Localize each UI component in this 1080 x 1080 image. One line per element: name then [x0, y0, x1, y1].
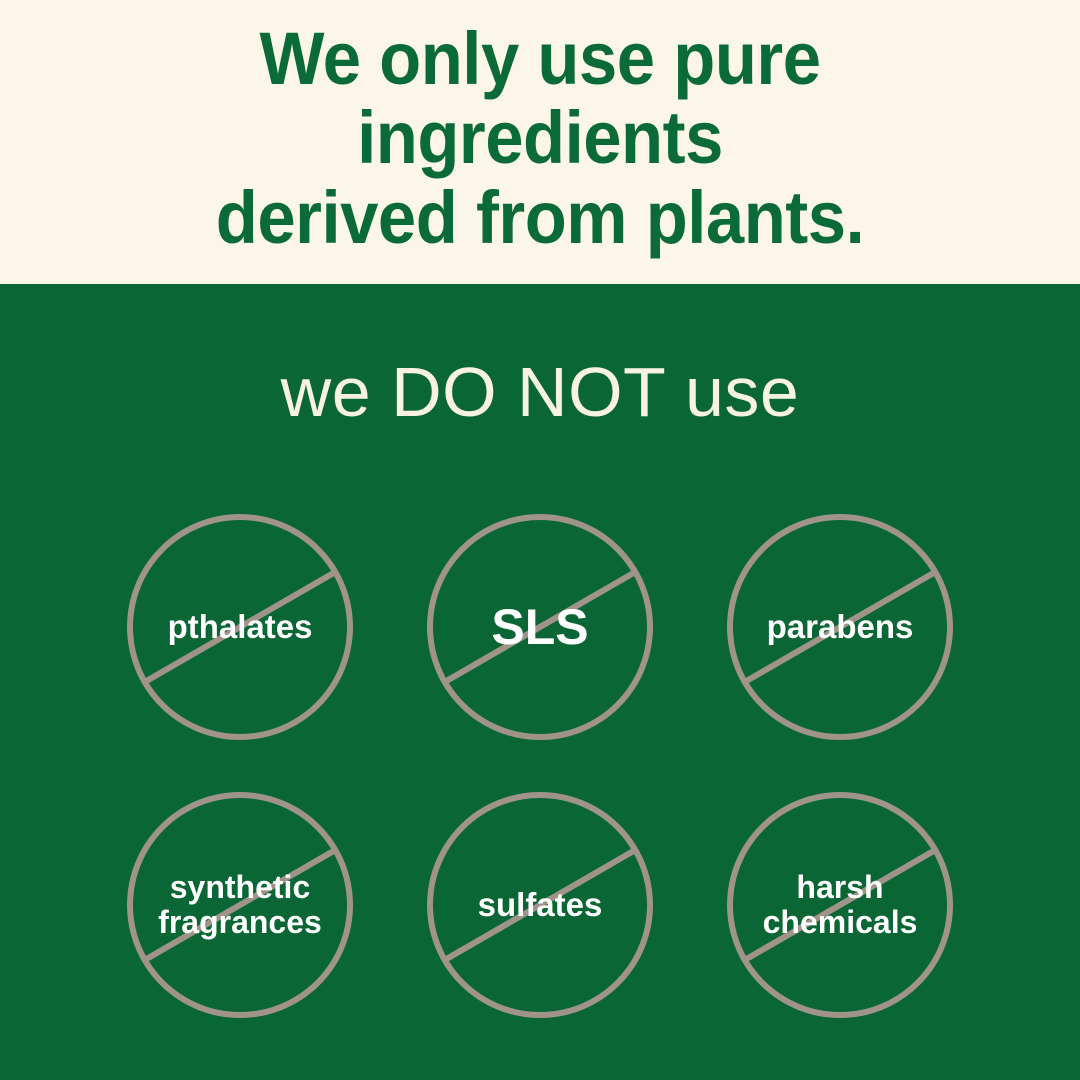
header-band: We only use pure ingredients derived fro…: [0, 0, 1080, 284]
poster-canvas: We only use pure ingredients derived fro…: [0, 0, 1080, 1080]
prohibition-badge: parabens: [726, 513, 954, 741]
prohibition-badge: pthalates: [126, 513, 354, 741]
ingredient-badge-parabens: parabens: [690, 488, 990, 766]
prohibition-icon: [426, 513, 654, 741]
ingredient-badge-harsh-chemicals: harsh chemicals: [690, 766, 990, 1044]
ingredient-badge-sls: SLS: [390, 488, 690, 766]
prohibition-badge: synthetic fragrances: [126, 791, 354, 1019]
prohibition-icon: [726, 513, 954, 741]
prohibition-icon: [126, 791, 354, 1019]
prohibition-badge: sulfates: [426, 791, 654, 1019]
ingredient-badge-synthetic-fragrances: synthetic fragrances: [90, 766, 390, 1044]
ingredient-badge-sulfates: sulfates: [390, 766, 690, 1044]
ingredient-badge-pthalates: pthalates: [90, 488, 390, 766]
prohibition-icon: [426, 791, 654, 1019]
prohibition-icon: [126, 513, 354, 741]
prohibition-badge: SLS: [426, 513, 654, 741]
prohibition-icon: [726, 791, 954, 1019]
do-not-use-panel: we DO NOT use pthalatesSLSparabenssynthe…: [0, 284, 1080, 1080]
prohibited-ingredients-grid: pthalatesSLSparabenssynthetic fragrances…: [0, 488, 1080, 1044]
prohibition-badge: harsh chemicals: [726, 791, 954, 1019]
page-title: We only use pure ingredients derived fro…: [75, 19, 1005, 257]
section-heading: we DO NOT use: [0, 357, 1080, 427]
